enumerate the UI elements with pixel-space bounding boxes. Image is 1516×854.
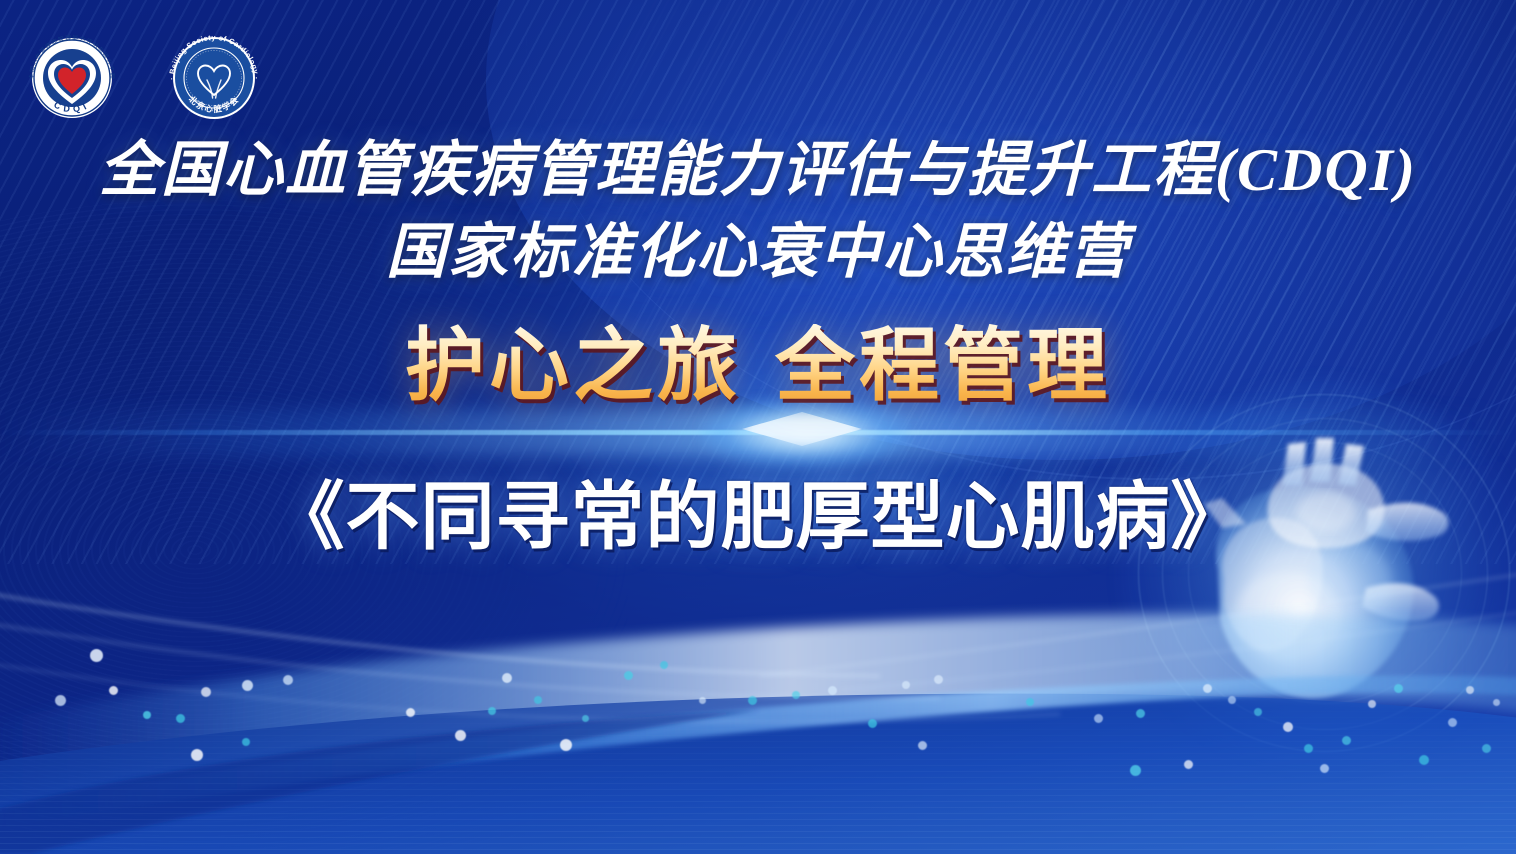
slogan-phrase-1: 护心之旅 xyxy=(405,319,741,412)
bokeh-dot xyxy=(902,681,910,689)
bokeh-dot xyxy=(1228,696,1236,704)
heart-halo-glow xyxy=(1120,380,1516,770)
bokeh-dot xyxy=(1130,765,1141,776)
slogan-phrase-2: 全程管理 xyxy=(775,319,1111,412)
lens-flare-core xyxy=(700,398,910,468)
bokeh-dot xyxy=(1320,764,1329,773)
bokeh-dot xyxy=(1283,722,1293,732)
bokeh-dot xyxy=(1466,686,1474,694)
bokeh-dot xyxy=(792,691,800,699)
bottom-wave-graphics xyxy=(0,514,1516,854)
background-wave-outline xyxy=(526,0,1516,480)
bokeh-dot xyxy=(934,675,943,684)
bokeh-dot xyxy=(560,739,572,751)
bokeh-dot xyxy=(1482,744,1491,753)
bokeh-dot xyxy=(748,696,757,705)
bokeh-dot xyxy=(109,686,118,695)
lens-flare-diamond xyxy=(742,412,862,446)
beijing-society-of-cardiology-logo: · Beijing Society of Cardiology · 北京心脏学会 xyxy=(160,24,268,132)
heart-ring-inner xyxy=(1188,442,1462,704)
heart-ring-middle xyxy=(1162,418,1488,730)
bokeh-dot xyxy=(582,715,589,722)
bokeh-dot xyxy=(242,738,250,746)
bokeh-dot xyxy=(1394,684,1403,693)
bottom-grid-lines xyxy=(0,664,1516,854)
slogan-line: 护心之旅全程管理 xyxy=(0,324,1516,408)
bokeh-dot xyxy=(699,697,706,704)
bokeh-dot xyxy=(1203,684,1212,693)
bokeh-dot xyxy=(534,696,542,704)
bokeh-dot xyxy=(90,649,103,662)
session-title: 《不同寻常的肥厚型心肌病》 xyxy=(0,478,1516,558)
bottom-wave-svg xyxy=(0,514,1516,854)
bokeh-dot xyxy=(488,707,496,715)
bokeh-dot xyxy=(1342,736,1351,745)
background-wave-top-right xyxy=(486,0,1516,460)
beam-soft-halo xyxy=(0,410,1516,456)
bokeh-dot xyxy=(1094,714,1103,723)
bokeh-dot xyxy=(1368,700,1376,708)
heart-anatomy-svg xyxy=(1160,420,1490,720)
bokeh-dot xyxy=(1184,760,1193,769)
bokeh-dot xyxy=(868,719,877,728)
bokeh-dot xyxy=(55,695,66,706)
bokeh-dot xyxy=(828,686,837,695)
bokeh-dot xyxy=(143,711,151,719)
bokeh-dot xyxy=(660,661,668,669)
bsc-logo-svg: · Beijing Society of Cardiology · 北京心脏学会 xyxy=(160,24,268,132)
bokeh-dot xyxy=(191,749,203,761)
bokeh-dot xyxy=(176,714,185,723)
bokeh-dot xyxy=(1026,698,1034,706)
bokeh-dot xyxy=(1493,699,1500,706)
presentation-title-slide: 全国心血管疾病管理能力评估与提升工程 CDQI xyxy=(0,0,1516,854)
horizontal-light-beam xyxy=(0,430,1516,435)
heart-illustration xyxy=(1160,420,1490,720)
program-name-line-1: 全国心血管疾病管理能力评估与提升工程(CDQI) xyxy=(0,140,1516,200)
bokeh-dot xyxy=(283,675,293,685)
cdqi-logo: 全国心血管疾病管理能力评估与提升工程 CDQI xyxy=(18,24,126,132)
cdqi-logo-svg: 全国心血管疾病管理能力评估与提升工程 CDQI xyxy=(18,24,126,132)
bokeh-dot xyxy=(1448,718,1457,727)
program-name-line-2: 国家标准化心衰中心思维营 xyxy=(0,222,1516,282)
bokeh-dot xyxy=(918,741,927,750)
background-arc-texture-left xyxy=(0,200,770,854)
bokeh-dot xyxy=(242,680,253,691)
bokeh-dot xyxy=(406,708,415,717)
background-diagonal-stripes-dense xyxy=(485,0,1516,564)
bokeh-dot xyxy=(455,730,466,741)
beam-ambient-glow xyxy=(560,330,1080,550)
bokeh-dot xyxy=(1136,709,1145,718)
bokeh-dot xyxy=(1419,755,1429,765)
bokeh-dot xyxy=(1304,744,1313,753)
organization-logos: 全国心血管疾病管理能力评估与提升工程 CDQI xyxy=(18,24,268,132)
bokeh-dot xyxy=(624,671,633,680)
heart-ring-outer xyxy=(1138,394,1510,752)
bokeh-dot xyxy=(1254,708,1262,716)
bokeh-dot xyxy=(502,673,512,683)
bokeh-dot xyxy=(201,687,211,697)
